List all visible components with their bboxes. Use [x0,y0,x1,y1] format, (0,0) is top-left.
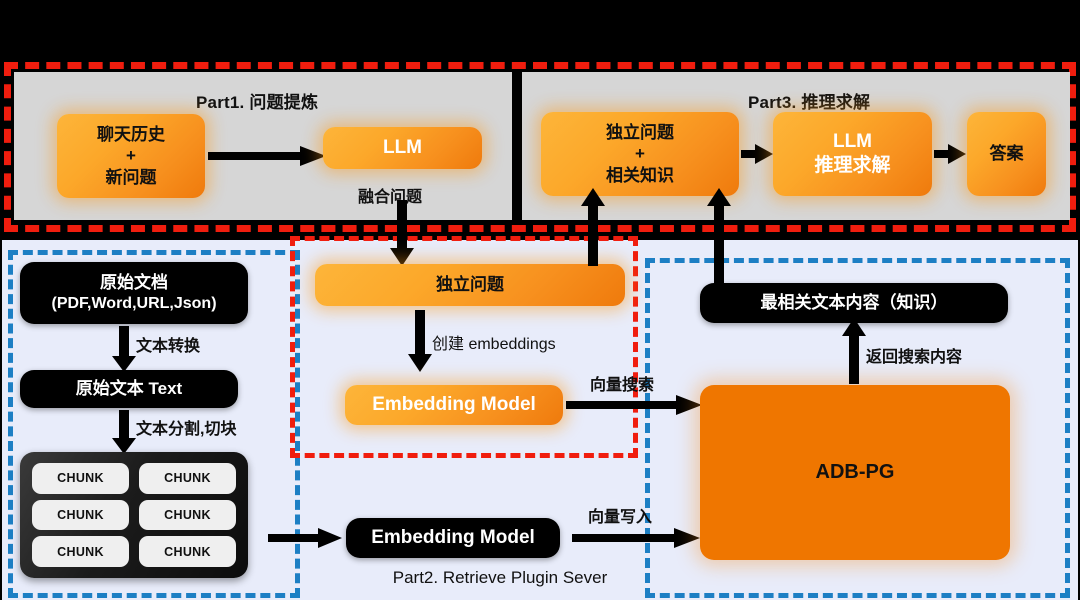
vector-search-label: 向量搜索 [590,371,654,395]
arrow-p3input-to-llm [741,144,773,164]
raw-text-label: 原始文本 Text [76,378,182,400]
chunk-item[interactable]: CHUNK [139,463,236,494]
p3-input-line1: 独立问题 [606,122,674,143]
chunk-item[interactable]: CHUNK [32,536,129,567]
arrow-text-to-chunks [112,410,136,454]
raw-text-node[interactable]: 原始文本 Text [20,370,238,408]
adb-pg-label: ADB-PG [816,461,895,484]
doc-line1: 原始文档 [100,272,168,294]
chunk-item[interactable]: CHUNK [139,536,236,567]
arrow-llm-to-answer [934,144,966,164]
part1-llm-label: LLM [383,136,422,160]
embedding-model-query-label: Embedding Model [372,393,536,417]
p3-input-plus: + [635,143,645,164]
chat-history-line1: 聊天历史 [97,124,165,145]
arrow-embedding-to-db-write [572,528,700,548]
chunk-item[interactable]: CHUNK [32,463,129,494]
p3-llm-line2: 推理求解 [814,154,890,178]
part3-llm-reasoning-node[interactable]: LLM 推理求解 [773,112,932,196]
arrow-doc-to-text [112,326,136,372]
adb-pg-database-node[interactable]: ADB-PG [700,385,1010,560]
chunk-item[interactable]: CHUNK [139,500,236,531]
standalone-question-label: 独立问题 [436,274,504,295]
text-split-label: 文本分割,切块 [136,415,236,439]
embedding-model-ingest-label: Embedding Model [371,526,535,551]
embedding-model-ingest-node[interactable]: Embedding Model [346,518,560,558]
arrow-knowledge-to-part3 [707,188,731,286]
arrow-db-to-knowledge [842,318,866,384]
question-plus-knowledge-node[interactable]: 独立问题 + 相关知识 [541,112,739,196]
vector-write-label: 向量写入 [588,503,652,527]
arrow-question-to-part3 [581,188,605,266]
create-embeddings-label: 创建 embeddings [432,330,556,354]
doc-line2: (PDF,Word,URL,Json) [51,294,216,315]
answer-node[interactable]: 答案 [967,112,1046,196]
return-search-label: 返回搜索内容 [866,343,962,367]
chat-history-new-question-node[interactable]: 聊天历史 + 新问题 [57,114,205,198]
answer-label: 答案 [990,143,1024,164]
part1-title: Part1. 问题提炼 [196,88,318,113]
arrow-input-to-llm [208,146,326,166]
part2-title: Part2. Retrieve Plugin Sever [0,568,1000,588]
arrow-question-to-embedding [408,310,432,372]
chat-history-line3: 新问题 [106,167,157,188]
part1-llm-node[interactable]: LLM [323,127,482,169]
embedding-model-query-node[interactable]: Embedding Model [345,385,563,425]
arrow-embedding-to-db-search [566,395,702,415]
p3-llm-line1: LLM [833,130,872,154]
part3-title: Part3. 推理求解 [748,88,870,113]
standalone-question-node[interactable]: 独立问题 [315,264,625,306]
original-document-node[interactable]: 原始文档 (PDF,Word,URL,Json) [20,262,248,324]
text-convert-label: 文本转换 [136,332,200,356]
chunk-container: CHUNK CHUNK CHUNK CHUNK CHUNK CHUNK [20,452,248,578]
p3-input-line3: 相关知识 [606,165,674,186]
arrow-chunks-to-embedding [268,528,342,548]
chunk-item[interactable]: CHUNK [32,500,129,531]
arrow-part1-to-question [390,200,414,266]
most-relevant-knowledge-node[interactable]: 最相关文本内容（知识） [700,283,1008,323]
chat-history-plus: + [126,145,136,166]
knowledge-label: 最相关文本内容（知识） [761,292,948,314]
